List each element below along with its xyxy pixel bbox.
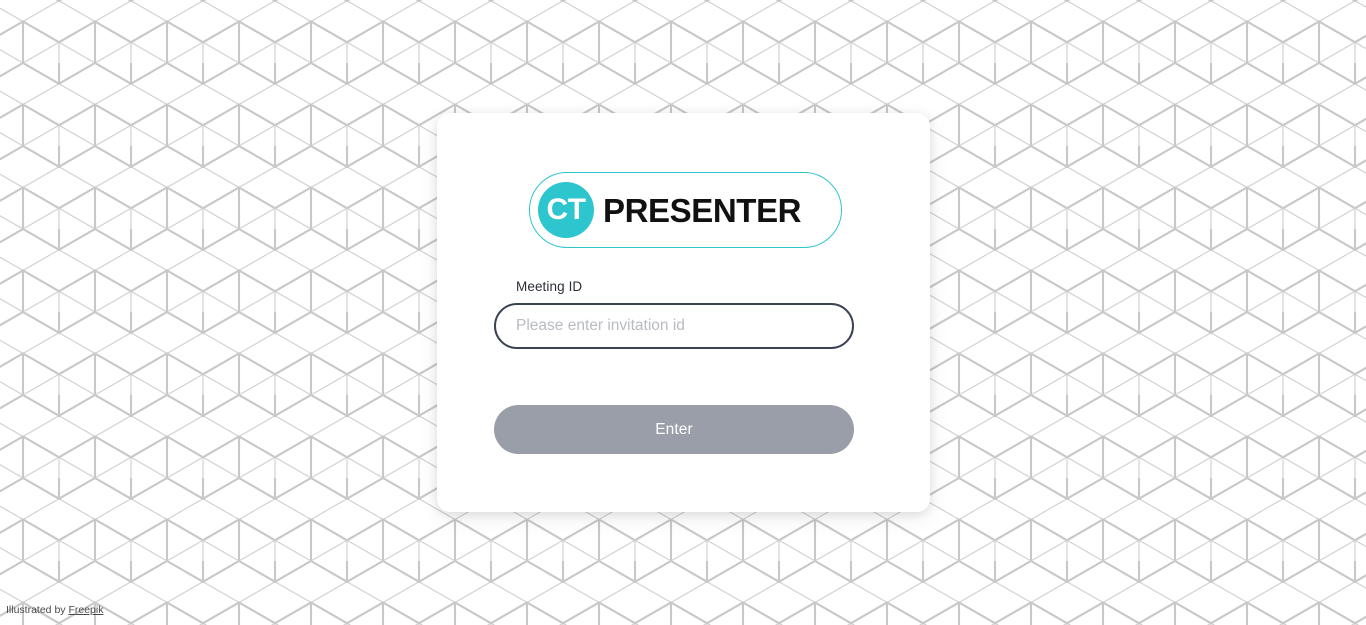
ct-circle-icon: CT xyxy=(538,182,594,238)
logo-mark-text: CT xyxy=(547,195,586,225)
login-card: CT PRESENTER Meeting ID Enter xyxy=(437,113,930,512)
attribution-prefix: Illustrated by xyxy=(6,604,68,616)
freepik-link[interactable]: Freepik xyxy=(68,604,103,616)
app-logo: CT PRESENTER xyxy=(529,172,842,248)
attribution-text: Illustrated by Freepik xyxy=(6,604,103,616)
meeting-id-label: Meeting ID xyxy=(516,279,582,294)
enter-button[interactable]: Enter xyxy=(494,405,854,454)
logo-wordmark: PRESENTER xyxy=(603,194,801,227)
meeting-id-input[interactable] xyxy=(494,303,854,349)
